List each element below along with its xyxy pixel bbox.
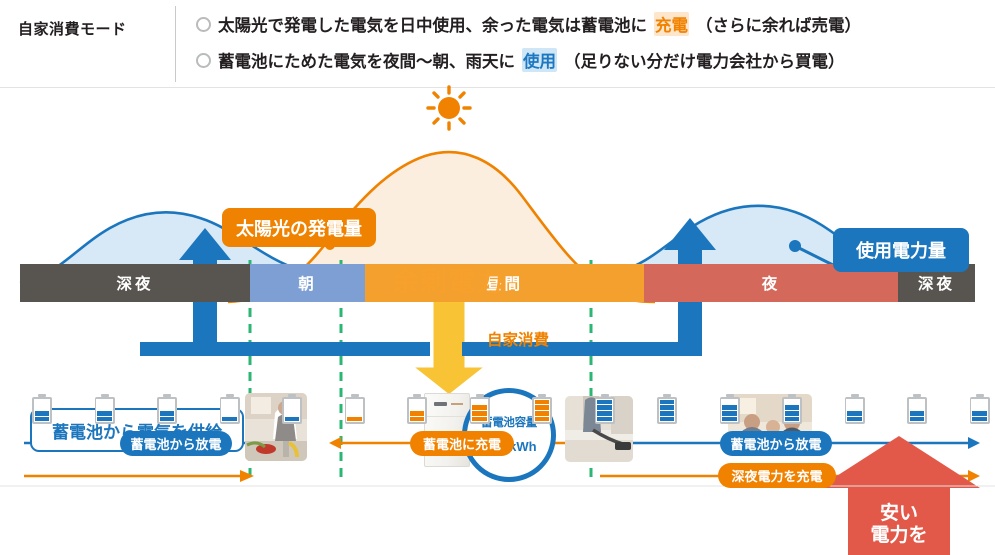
battery-level-icon [845,394,865,424]
flow-pill-charge-day: 蓄電池に充電 [410,431,514,456]
battery-body [595,397,615,424]
battery-cell [972,400,987,405]
battery-cell [285,400,300,405]
battery-cell [597,417,612,422]
battery-level-icon [282,394,302,424]
battery-body [282,397,302,424]
battery-body [95,397,115,424]
battery-cell [347,417,362,422]
battery-inner [659,399,676,423]
battery-inner [534,399,551,423]
battery-body [720,397,740,424]
battery-cell [660,417,675,422]
battery-cell [722,400,737,405]
battery-cell [97,411,112,416]
battery-cell [97,405,112,410]
curves-layer [0,88,995,555]
callout-solar-generation: 太陽光の発電量 [222,208,376,247]
battery-inner [409,399,426,423]
battery-cell [160,411,175,416]
bullet-1-text-pre: 蓄電池にためた電気を夜間〜朝、雨天に [218,48,515,72]
battery-cell [785,405,800,410]
battery-body [845,397,865,424]
battery-cell [347,400,362,405]
battery-cell [972,405,987,410]
battery-body [220,397,240,424]
battery-inner [34,399,51,423]
battery-inner [346,399,363,423]
battery-cell [35,417,50,422]
battery-cell [285,405,300,410]
supply-bus-elbow [678,342,702,356]
battery-cell [35,411,50,416]
flow-arrowhead-charge-day-left [329,437,341,449]
battery-body [345,397,365,424]
battery-level-icon [595,394,615,424]
battery-cell [222,411,237,416]
battery-cell [785,417,800,422]
battery-cell [847,405,862,410]
battery-cell [847,400,862,405]
cheap-power-arrow-label: 安い電力を [845,503,953,547]
header-divider [175,6,176,82]
cheap-power-line: 安い [845,503,953,525]
battery-cell [910,411,925,416]
battery-body [657,397,677,424]
battery-cell [972,411,987,416]
battery-body [907,397,927,424]
label-self-consumption: 自家消費 [487,328,549,350]
label-surplus-power: 余剰電力 [392,260,504,299]
battery-cell [35,405,50,410]
bullet-0-text-pre: 太陽光で発電した電気を日中使用、余った電気は蓄電池に [218,12,647,36]
battery-body [532,397,552,424]
bullet-1-highlight: 使用 [522,48,557,72]
battery-cell [472,411,487,416]
battery-level-icon [720,394,740,424]
battery-cell [597,411,612,416]
header-bullet-row-1: 蓄電池にためた電気を夜間〜朝、雨天に 使用 （足りない分だけ電力会社から買電） [196,48,845,72]
energy-flow-diagram: 深夜 朝 昼間 夜 深夜 太陽光の発電量 使用電力量 蓄電池から電気を供給 余剰… [0,88,995,555]
battery-body [970,397,990,424]
battery-cell [160,405,175,410]
battery-level-icon [782,394,802,424]
supply-bus-left [140,342,430,356]
battery-body [407,397,427,424]
battery-inner [721,399,738,423]
battery-inner [221,399,238,423]
battery-cell [410,405,425,410]
battery-level-icon [970,394,990,424]
battery-level-icon [157,394,177,424]
battery-inner [159,399,176,423]
flow-arrowhead-orange-early [240,470,254,482]
bullet-0-highlight: 充電 [654,12,689,36]
battery-inner [284,399,301,423]
battery-level-icon [32,394,52,424]
flow-pill-charge-midnight: 深夜電力を充電 [718,463,836,488]
battery-cell [285,417,300,422]
battery-inner [596,399,613,423]
battery-inner [909,399,926,423]
battery-cell [472,400,487,405]
battery-cell [222,400,237,405]
header-bullet-row-0: 太陽光で発電した電気を日中使用、余った電気は蓄電池に 充電 （さらに余れば売電） [196,12,861,36]
battery-cell [972,417,987,422]
battery-level-icon [907,394,927,424]
battery-cell [410,417,425,422]
battery-cell [535,400,550,405]
battery-cell [660,411,675,416]
battery-inner [971,399,988,423]
battery-cell [535,411,550,416]
battery-level-icon [407,394,427,424]
battery-cell [472,417,487,422]
battery-cell [597,400,612,405]
callout-power-usage: 使用電力量 [833,228,969,272]
battery-cell [347,411,362,416]
battery-cell [910,400,925,405]
time-segment-morning: 朝 [250,264,365,302]
battery-cell [35,400,50,405]
cheap-power-line: 電力を [845,525,953,547]
battery-cell [785,400,800,405]
bullet-1-text-post: （足りない分だけ電力会社から買電） [564,48,845,72]
flow-pill-discharge-evening: 蓄電池から放電 [720,431,832,456]
circle-bullet-icon [196,17,211,32]
battery-cell [410,411,425,416]
battery-inner [96,399,113,423]
flow-arrowhead-charge-midnight [968,470,980,482]
flow-arrowhead-discharge-evening [968,437,980,449]
battery-level-icon [345,394,365,424]
battery-cell [347,405,362,410]
battery-cell [97,400,112,405]
battery-cell [160,400,175,405]
mode-title: 自家消費モード [18,18,168,39]
flow-pill-discharge-early: 蓄電池から放電 [120,431,232,456]
battery-level-icon [657,394,677,424]
battery-inner [784,399,801,423]
battery-level-row [0,394,995,428]
battery-cell [847,417,862,422]
battery-cell [285,411,300,416]
battery-cell [410,400,425,405]
battery-cell [597,405,612,410]
battery-cell [785,411,800,416]
battery-cell [535,405,550,410]
battery-cell [660,405,675,410]
time-segment-midnight-1: 深夜 [20,264,250,302]
battery-level-icon [470,394,490,424]
battery-body [782,397,802,424]
header-panel: 自家消費モード 太陽光で発電した電気を日中使用、余った電気は蓄電池に 充電 （さ… [0,0,995,88]
bullet-0-text-post: （さらに余れば売電） [696,12,861,36]
battery-level-icon [220,394,240,424]
sun-icon [428,87,470,129]
circle-bullet-icon [196,53,211,68]
battery-level-icon [95,394,115,424]
battery-body [157,397,177,424]
battery-cell [97,417,112,422]
battery-cell [222,417,237,422]
battery-cell [660,400,675,405]
usage-callout-dot [789,240,801,252]
battery-cell [722,405,737,410]
battery-cell [160,417,175,422]
battery-cell [222,405,237,410]
battery-cell [472,405,487,410]
battery-inner [471,399,488,423]
battery-body [32,397,52,424]
battery-body [470,397,490,424]
battery-level-icon [532,394,552,424]
battery-cell [910,417,925,422]
battery-inner [846,399,863,423]
battery-cell [722,417,737,422]
battery-cell [722,411,737,416]
battery-cell [847,411,862,416]
battery-cell [535,417,550,422]
battery-cell [910,405,925,410]
